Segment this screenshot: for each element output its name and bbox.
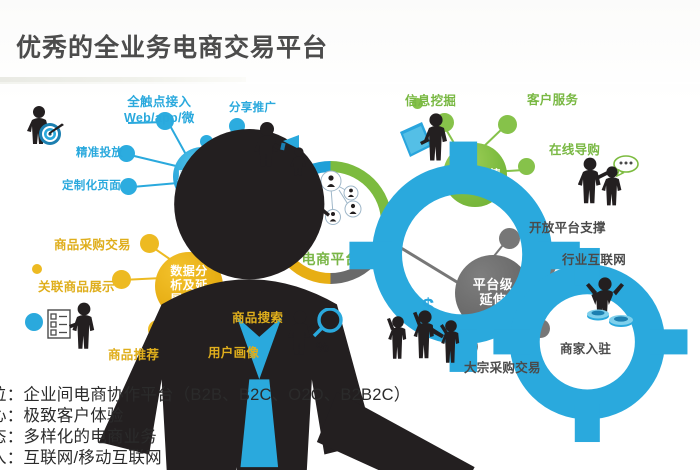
summary-line: 心：极致客户体验	[0, 406, 700, 427]
leaf-label-related-goods-display: 关联商品展示	[38, 280, 115, 296]
leaf-label-merchant-onboarding: 商家入驻	[560, 342, 611, 358]
slide-canvas: 优秀的全业务电商交易平台	[0, 0, 700, 470]
leaf-label-customer-service: 客户服务	[527, 93, 578, 109]
leaf-label-goods-search: 商品搜索	[232, 311, 283, 327]
magnifier-percent-icon: %	[288, 308, 356, 364]
leaf-label-industrial-internet: 行业互联网	[562, 253, 626, 269]
leaf-label-goods-recommend: 商品推荐	[108, 348, 159, 364]
satellite-dot	[32, 264, 42, 274]
megaphone-promote-icon	[251, 118, 311, 180]
leaf-label-info-mining: 信息挖掘	[405, 94, 456, 110]
summary-line: 入：互联网/移动互联网	[0, 448, 700, 469]
summary-line: 态：多样化的电商业务	[0, 427, 700, 448]
data-mining-icon	[398, 110, 454, 172]
target-archer-icon	[24, 104, 70, 168]
leaf-label-open-platform-support: 开放平台支撑	[529, 221, 606, 237]
checklist-presenter-icon	[22, 300, 110, 360]
industry-network-icon	[572, 274, 638, 336]
summary-block: 位：企业间电商协作平台（B2B、B2C、O2O、B2B2C） 心：极致客户体验 …	[0, 385, 700, 469]
summary-line: 位：企业间电商协作平台（B2B、B2C、O2O、B2B2C）	[0, 385, 700, 406]
chat-support-icon	[578, 152, 640, 210]
money-celebration-icon: $	[382, 292, 478, 364]
leaf-label-user-profile: 用户画像	[208, 346, 259, 362]
leaf-label-goods-procurement: 商品采购交易	[54, 238, 131, 254]
svg-text:%: %	[316, 339, 329, 356]
